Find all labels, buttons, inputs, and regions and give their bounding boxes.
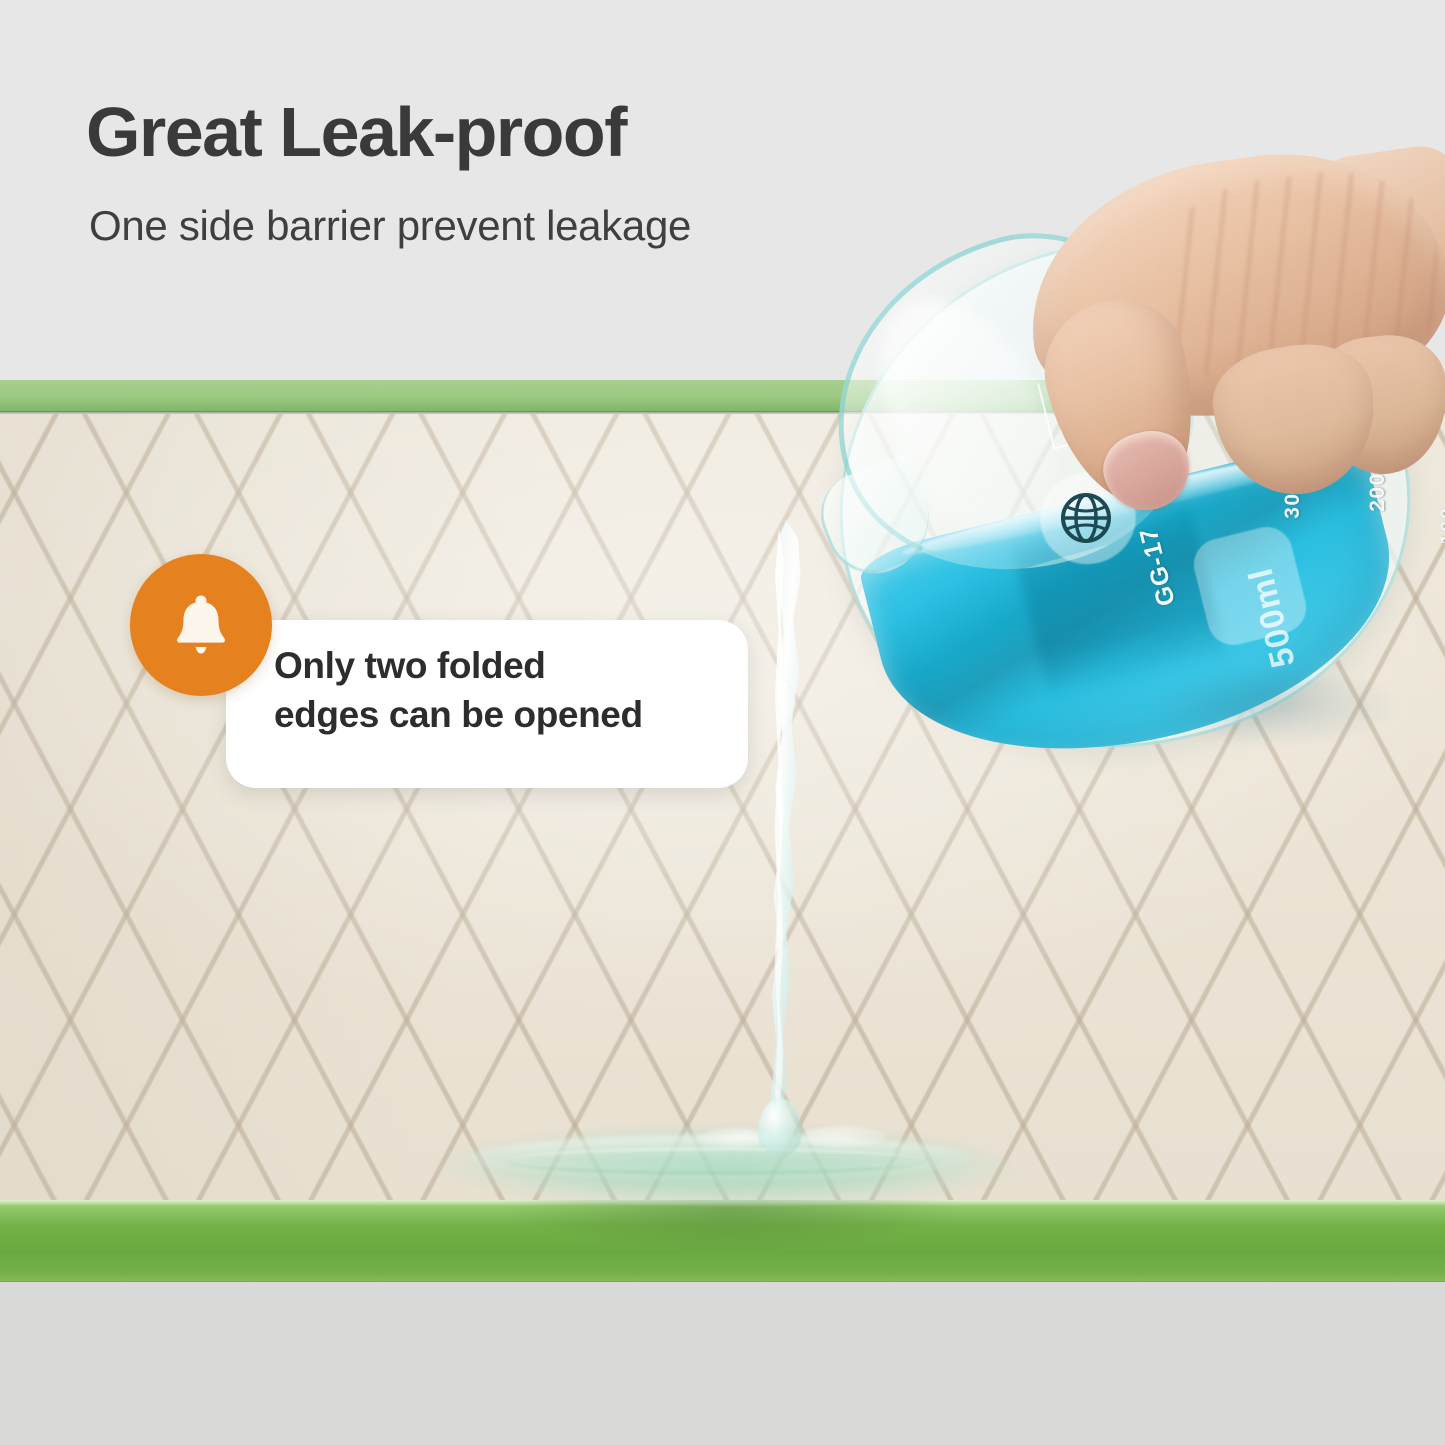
pooled-water-ripple — [505, 1148, 925, 1174]
product-feature-image: Great Leak-proof One side barrier preven… — [0, 0, 1445, 1445]
splash-right — [800, 1126, 886, 1148]
hand-holding-beaker — [980, 150, 1445, 570]
pad-drop-shadow — [0, 1281, 1445, 1282]
callout-badge — [130, 554, 272, 696]
callout-text: Only two folded edges can be opened — [274, 642, 734, 740]
callout-line-2: edges can be opened — [274, 691, 734, 740]
bell-icon — [165, 589, 237, 661]
beaker-base-shadow — [1148, 672, 1398, 746]
barrier-wet-shade — [430, 1200, 1030, 1282]
page-subtitle: One side barrier prevent leakage — [89, 202, 691, 250]
page-title: Great Leak-proof — [86, 96, 626, 170]
callout-line-1: Only two folded — [274, 642, 734, 691]
